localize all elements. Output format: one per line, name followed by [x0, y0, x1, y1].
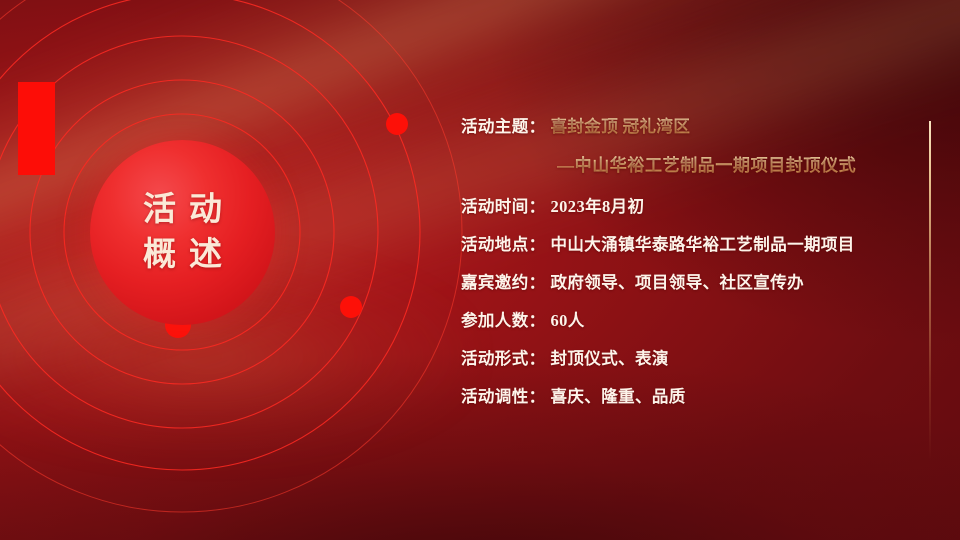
info-row-subtitle: —中山华裕工艺制品一期项目封顶仪式	[461, 151, 911, 193]
info-value: 中山大涌镇华泰路华裕工艺制品一期项目	[551, 231, 855, 255]
info-label: 活动地点：	[461, 231, 546, 255]
badge-title-line-2: 概述	[130, 233, 235, 278]
badge-title-line-1: 活动	[130, 188, 235, 233]
info-label: 嘉宾邀约：	[461, 269, 546, 293]
info-value: 60人	[551, 307, 585, 331]
accent-rectangle	[18, 82, 55, 175]
gold-divider-line	[929, 121, 931, 461]
section-badge: 活动 概述	[90, 140, 275, 325]
info-row: 活动时间： 2023年8月初	[461, 193, 911, 231]
info-label: 活动形式：	[461, 345, 546, 369]
info-row: 参加人数： 60人	[461, 307, 911, 345]
info-value: 政府领导、项目领导、社区宣传办	[551, 269, 805, 293]
info-label: 活动主题：	[461, 113, 546, 137]
info-value: 喜庆、隆重、品质	[551, 383, 686, 407]
decorative-dot	[386, 113, 408, 135]
info-label: 活动时间：	[461, 193, 546, 217]
decorative-dot	[340, 296, 362, 318]
info-value: 封顶仪式、表演	[551, 345, 669, 369]
info-value: —中山华裕工艺制品一期项目封顶仪式	[557, 151, 856, 176]
info-row: 活动形式： 封顶仪式、表演	[461, 345, 911, 383]
info-list: 活动主题： 喜封金顶 冠礼湾区 —中山华裕工艺制品一期项目封顶仪式 活动时间： …	[461, 113, 911, 421]
info-row: 活动地点： 中山大涌镇华泰路华裕工艺制品一期项目	[461, 231, 911, 269]
info-row: 活动主题： 喜封金顶 冠礼湾区	[461, 113, 911, 151]
slide-canvas: 活动 概述 活动主题： 喜封金顶 冠礼湾区 —中山华裕工艺制品一期项目封顶仪式 …	[0, 0, 960, 540]
info-label: 参加人数：	[461, 307, 546, 331]
info-row: 活动调性： 喜庆、隆重、品质	[461, 383, 911, 421]
info-value: 喜封金顶 冠礼湾区	[551, 113, 691, 137]
info-row: 嘉宾邀约： 政府领导、项目领导、社区宣传办	[461, 269, 911, 307]
info-value: 2023年8月初	[551, 193, 645, 217]
info-label: 活动调性：	[461, 383, 546, 407]
